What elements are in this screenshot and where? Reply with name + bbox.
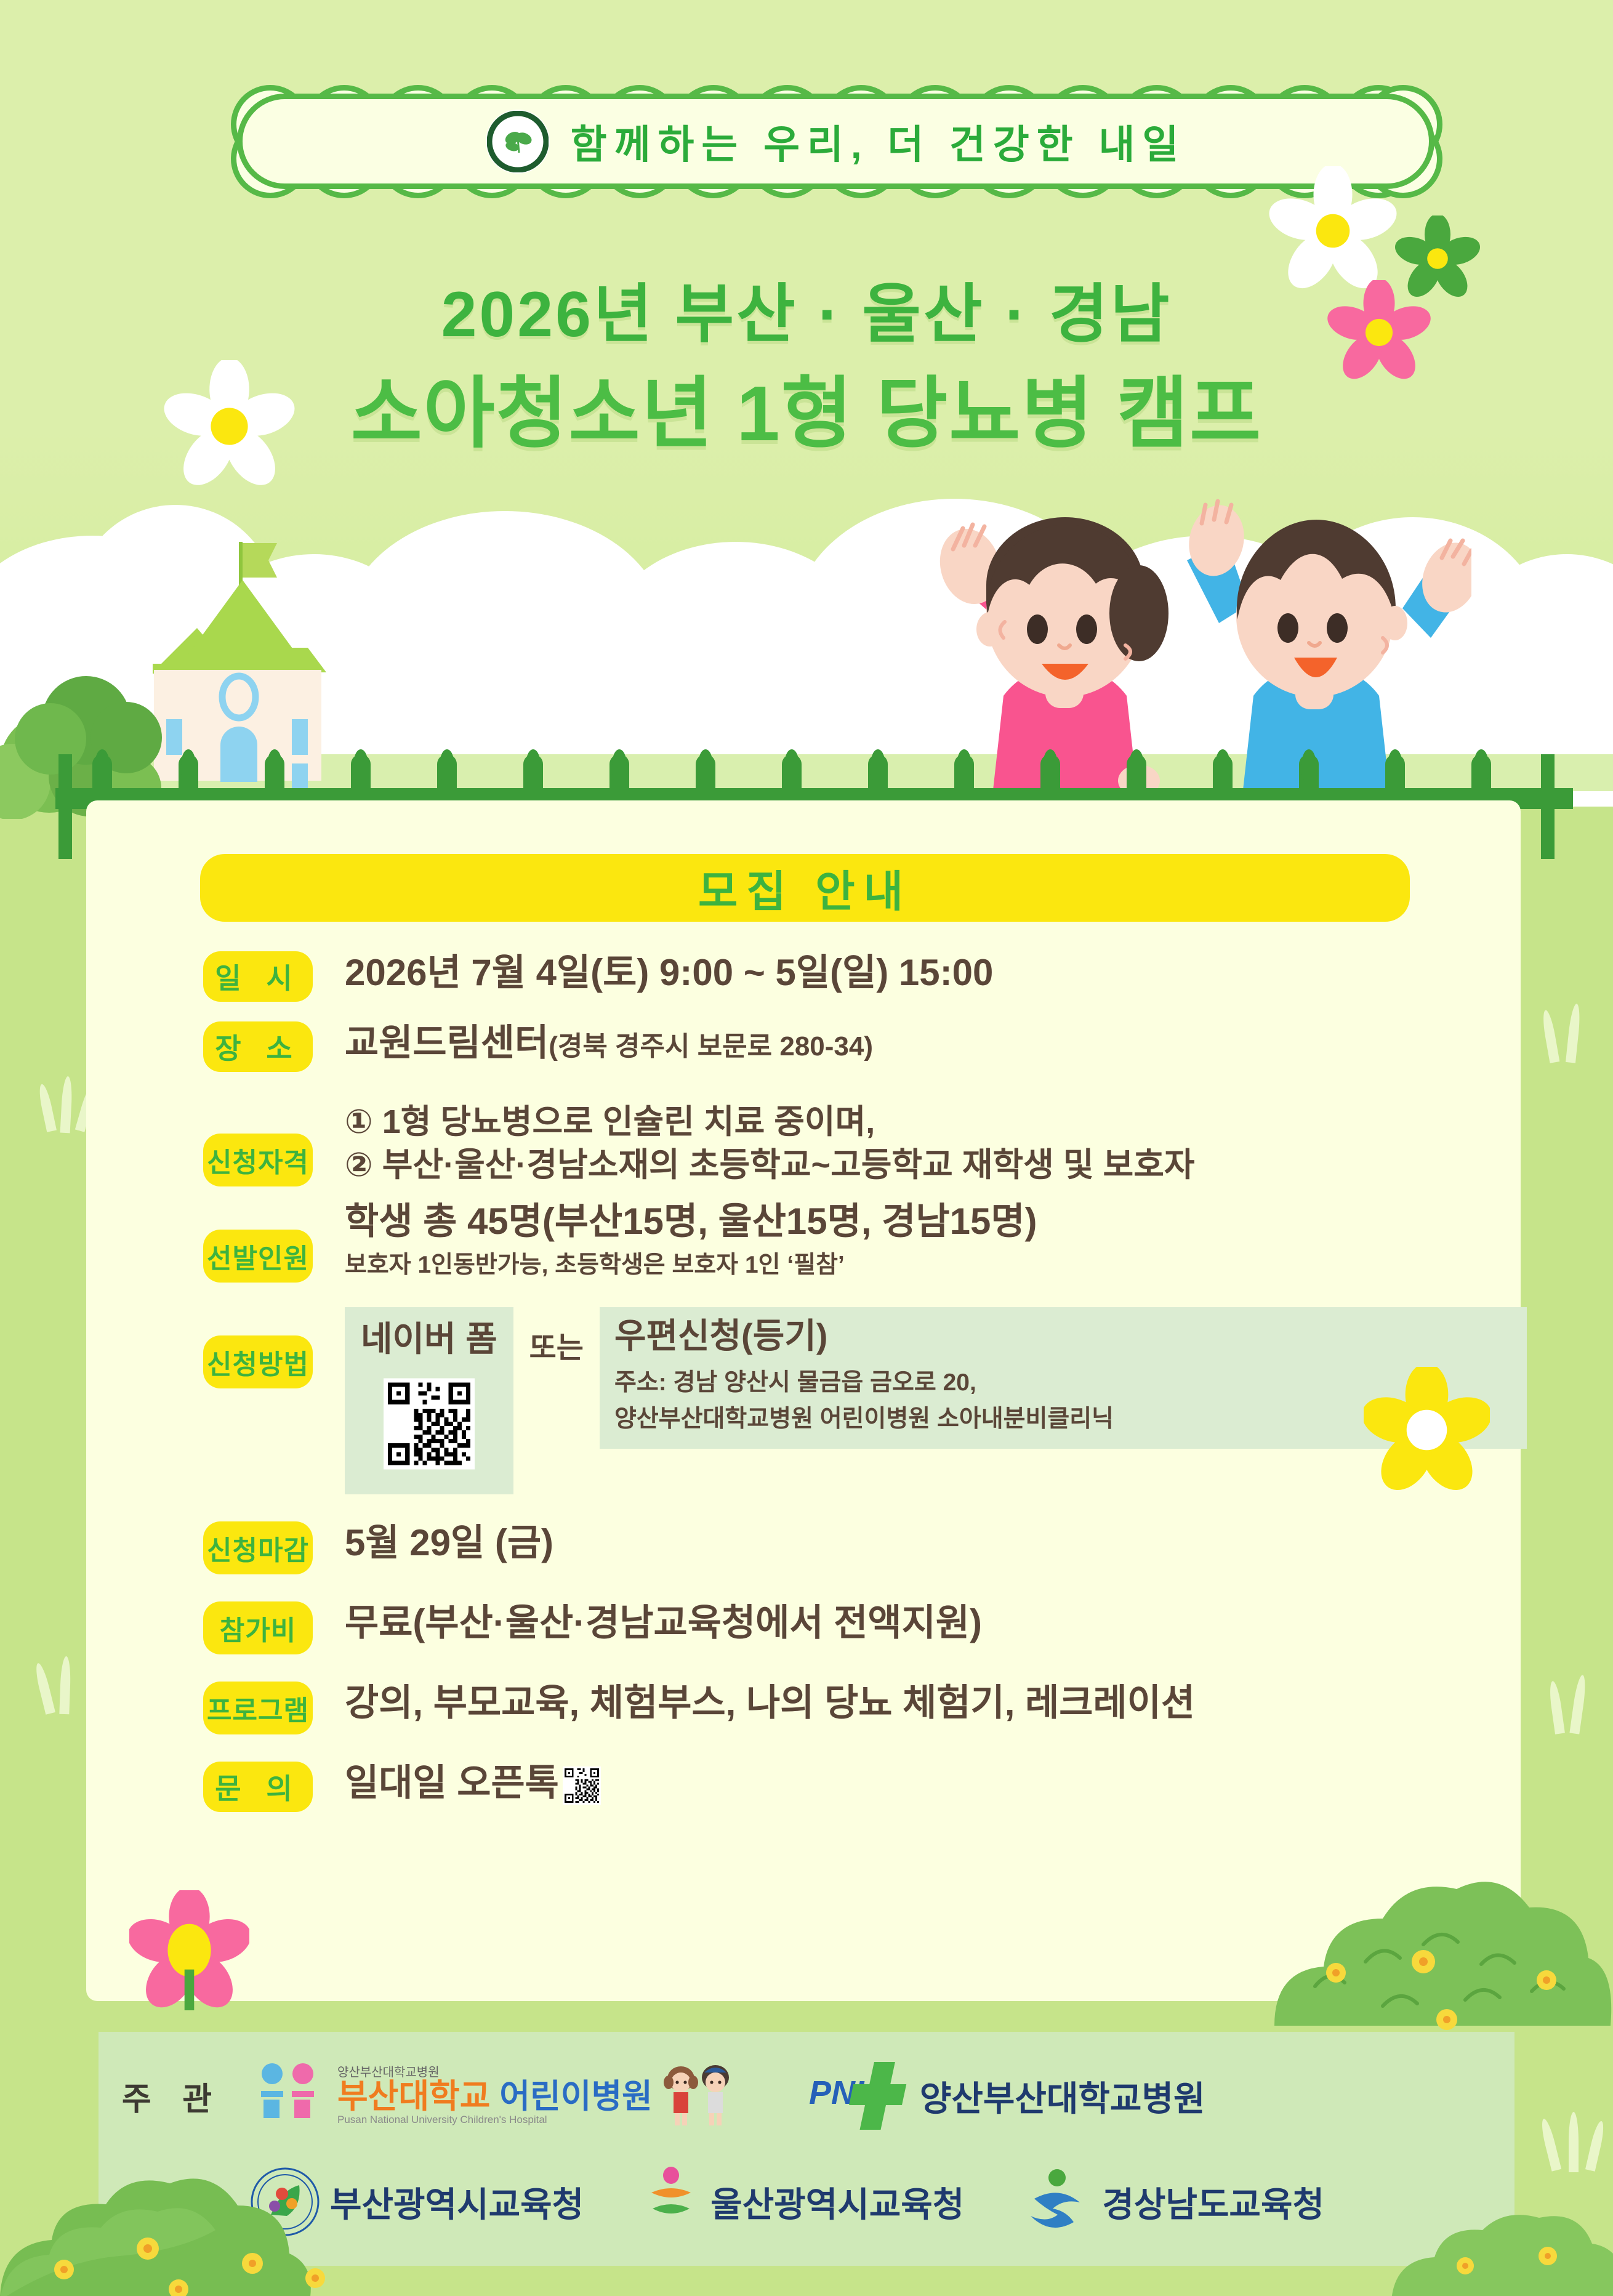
logo-ulsan-education-office: 울산광역시교육청 [640,2165,964,2238]
row-date-value: 2026년 7월 4일(토) 9:00 ~ 5일(일) 15:00 [345,951,1527,995]
row-apply-method-tag: 신청방법 [203,1335,313,1388]
row-inquiry: 문 의 일대일 오픈톡 [203,1762,1527,1812]
slogan-text: 함께하는 우리, 더 건강한 내일 [571,113,1186,170]
row-place: 장 소 교원드림센터(경북 경주시 보문로 280-34) [203,1021,1527,1072]
row-fee-tag: 참가비 [203,1601,313,1654]
row-date-tag: 일 시 [203,951,313,1002]
mascot-characters-icon [661,2061,734,2130]
white-flower-icon-title-left [163,360,296,493]
row-eligibility: 신청자격 ① 1형 당뇨병으로 인슐린 치료 중이며, ② 부산·울산·경남소재… [203,1100,1527,1186]
opentalk-qr-code[interactable] [563,1766,601,1805]
row-quota-line-2: 보호자 1인동반가능, 초등학생은 보호자 1인 ‘필참’ [345,1250,1527,1281]
row-deadline-value: 5월 29일 (금) [345,1521,1527,1565]
ulsan-edu-name: 울산광역시교육청 [710,2177,964,2227]
grass-blade [1569,2112,1579,2172]
camp-logo-icon [486,110,550,174]
hospital-logo-subtitle-bottom: Pusan National University Children's Hos… [337,2114,653,2125]
recruitment-banner-label: 모집 안내 [698,857,912,919]
hospital-logo-main: 부산대학교 어린이병원 [337,2079,653,2114]
row-program-tag: 프로그램 [203,1682,313,1734]
row-fee: 참가비 무료(부산·울산·경남교육청에서 전액지원) [203,1601,1527,1654]
naver-form-label: 네이버 폼 [361,1317,497,1362]
hospital-logo-subtitle-top: 양산부산대학교병원 [337,2066,653,2079]
row-eligibility-tag: 신청자격 [203,1134,313,1186]
row-deadline: 신청마감 5월 29일 (금) [203,1521,1527,1574]
naver-form-qr-code[interactable] [384,1367,475,1481]
pnu-children-figures-icon [249,2059,329,2133]
footer-host-row: 주 관 양산부산대학교병원 부산대학교 어린이병원 Pusan National… [99,2053,1514,2139]
bush-right-large [1262,1841,1613,2038]
row-inquiry-value: 일대일 오픈톡 [345,1762,559,1803]
row-quota-tag: 선발인원 [203,1230,313,1283]
gyeongnam-edu-name: 경상남도교육청 [1102,2177,1324,2227]
ulsan-edu-emblem-icon [640,2165,702,2238]
pink-flower-icon-title [1327,280,1431,385]
row-apply-method: 신청방법 네이버 폼 [203,1307,1527,1494]
row-quota: 선발인원 학생 총 45명(부산15명, 울산15명, 경남15명) 보호자 1… [203,1200,1527,1283]
yangsan-hospital-name: 양산부산대학교병원 [920,2071,1205,2121]
row-fee-value: 무료(부산·울산·경남교육청에서 전액지원) [345,1601,1527,1645]
pnu-cross-icon: PNU [806,2056,911,2136]
row-place-address: (경북 경주시 보문로 280-34) [549,1031,873,1061]
row-program: 프로그램 강의, 부모교육, 체험부스, 나의 당뇨 체험기, 레크레이션 [203,1682,1527,1734]
row-deadline-tag: 신청마감 [203,1521,313,1574]
recruitment-banner: 모집 안내 [200,854,1410,922]
bush-left-bottom [0,2155,382,2296]
apply-or-label: 또는 [513,1307,600,1366]
postal-application-title: 우편신청(등기) [614,1316,1502,1356]
gyeongnam-edu-emblem-icon [1021,2165,1093,2238]
row-date: 일 시 2026년 7월 4일(토) 9:00 ~ 5일(일) 15:00 [203,951,1527,1002]
pink-flower-icon-inquiry [129,1890,249,2010]
row-eligibility-line-1: ① 1형 당뇨병으로 인슐린 치료 중이며, [345,1100,1527,1143]
bush-right-bottom [1391,2192,1613,2296]
logo-gyeongnam-education-office: 경상남도교육청 [1021,2165,1324,2238]
slogan-ribbon: 함께하는 우리, 더 건강한 내일 [237,94,1434,189]
row-quota-line-1: 학생 총 45명(부산15명, 울산15명, 경남15명) [345,1200,1527,1244]
poster-root: 함께하는 우리, 더 건강한 내일 2026년 부산 · 울산 · 경남 소아청… [0,0,1613,2296]
yellow-flower-icon-card [1364,1367,1490,1493]
naver-form-block[interactable]: 네이버 폼 [345,1307,513,1494]
row-program-value: 강의, 부모교육, 체험부스, 나의 당뇨 체험기, 레크레이션 [345,1682,1527,1725]
info-rows: 일 시 2026년 7월 4일(토) 9:00 ~ 5일(일) 15:00 장 … [203,951,1527,1812]
row-eligibility-line-2: ② 부산·울산·경남소재의 초등학교~고등학교 재학생 및 보호자 [345,1143,1527,1186]
footer-host-label: 주 관 [99,2073,246,2119]
row-place-tag: 장 소 [203,1021,313,1072]
logo-yangsan-pnu-hospital: PNU 양산부산대학교병원 [806,2056,1205,2136]
row-inquiry-tag: 문 의 [203,1762,313,1812]
row-place-value: 교원드림센터 [345,1022,549,1063]
logo-pnu-childrens-hospital: 양산부산대학교병원 부산대학교 어린이병원 Pusan National Uni… [249,2059,734,2133]
